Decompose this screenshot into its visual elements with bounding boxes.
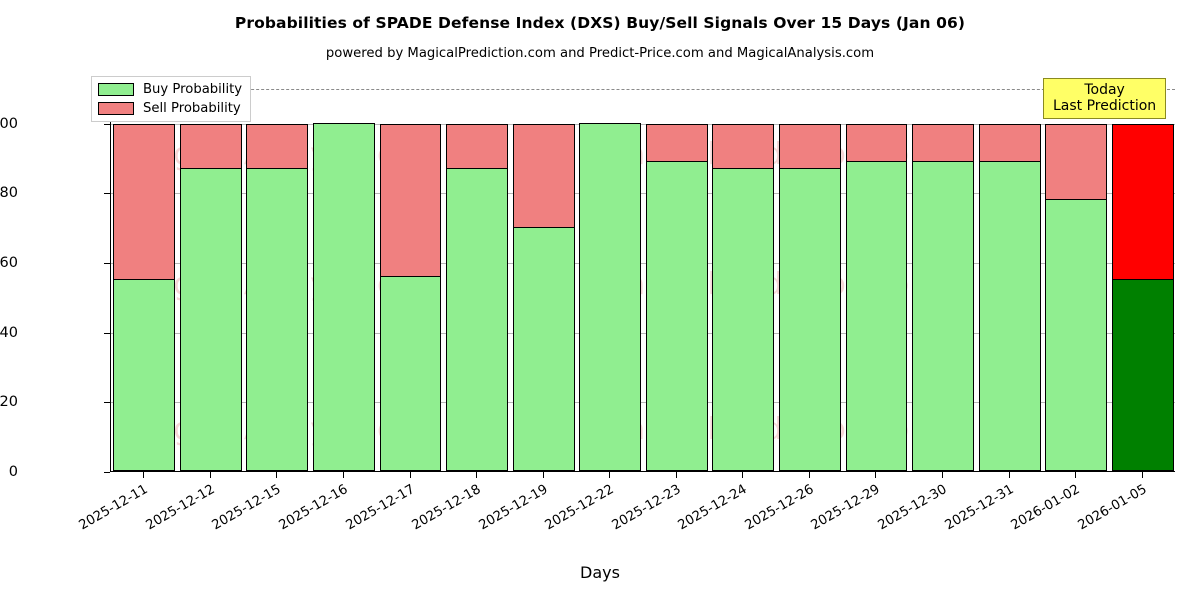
x-tick-label: 2025-12-31 [939,482,1016,535]
bar-group[interactable] [646,123,708,471]
chart-canvas: Probabilities of SPADE Defense Index (DX… [0,0,1200,600]
x-tick-label: 2025-12-16 [274,482,351,535]
bar-segment-sell[interactable] [1045,124,1107,201]
x-tick-label: 2026-01-05 [1072,482,1149,535]
legend-item-buy: Buy Probability [98,82,242,97]
x-tick-label: 2025-12-23 [606,482,683,535]
x-tick-mark [742,472,743,478]
bar-group[interactable] [912,123,974,471]
bar-segment-buy[interactable] [579,123,641,471]
bar-segment-sell[interactable] [979,124,1041,162]
x-tick-label: 2025-12-19 [473,482,550,535]
bar-group[interactable] [712,123,774,471]
reference-dashed-line [111,89,1175,90]
today-label-line2: Last Prediction [1053,98,1156,114]
bar-segment-buy[interactable] [1112,279,1174,471]
x-tick-label: 2025-12-18 [407,482,484,535]
bar-segment-sell[interactable] [712,124,774,169]
bar-group[interactable] [246,123,308,471]
bar-segment-buy[interactable] [779,168,841,471]
x-tick-mark [343,472,344,478]
x-tick-label: 2025-12-26 [740,482,817,535]
x-tick-label: 2025-12-30 [873,482,950,535]
bar-segment-sell[interactable] [846,124,908,162]
y-tick-mark [104,472,110,473]
bar-segment-sell[interactable] [646,124,708,162]
y-tick-label: 100 [0,116,18,132]
bar-group[interactable] [313,123,375,471]
bar-segment-buy[interactable] [513,227,575,471]
x-tick-label: 2026-01-02 [1006,482,1083,535]
bar-segment-sell[interactable] [380,124,442,277]
x-tick-mark [143,472,144,478]
bar-group[interactable] [579,123,641,471]
bar-segment-sell[interactable] [180,124,242,169]
bar-group[interactable] [513,123,575,471]
x-tick-mark [1142,472,1143,478]
x-tick-label: 2025-12-17 [340,482,417,535]
x-tick-label: 2025-12-11 [74,482,151,535]
y-tick-label: 0 [0,464,18,480]
y-tick-label: 40 [0,325,18,341]
bar-segment-sell[interactable] [912,124,974,162]
bar-segment-buy[interactable] [446,168,508,471]
legend-label-buy: Buy Probability [143,82,242,97]
bar-group[interactable] [979,123,1041,471]
x-tick-label: 2025-12-15 [207,482,284,535]
x-tick-mark [410,472,411,478]
x-tick-mark [210,472,211,478]
bar-segment-buy[interactable] [646,161,708,471]
bar-segment-sell[interactable] [113,124,175,281]
bar-segment-buy[interactable] [313,123,375,471]
x-axis-label: Days [0,563,1200,582]
x-tick-mark [609,472,610,478]
chart-title: Probabilities of SPADE Defense Index (DX… [0,14,1200,32]
bar-segment-sell[interactable] [446,124,508,169]
x-tick-mark [276,472,277,478]
bar-segment-buy[interactable] [979,161,1041,471]
bar-segment-buy[interactable] [113,279,175,471]
x-tick-mark [1075,472,1076,478]
legend: Buy Probability Sell Probability [91,76,251,122]
legend-label-sell: Sell Probability [143,101,241,116]
legend-swatch-buy [98,83,134,96]
bar-segment-buy[interactable] [1045,199,1107,471]
bar-group[interactable] [1045,123,1107,471]
legend-item-sell: Sell Probability [98,101,242,116]
x-tick-mark [676,472,677,478]
x-tick-mark [1009,472,1010,478]
x-tick-label: 2025-12-22 [540,482,617,535]
x-tick-mark [875,472,876,478]
x-tick-mark [809,472,810,478]
bar-segment-buy[interactable] [712,168,774,471]
bar-group[interactable] [180,123,242,471]
legend-swatch-sell [98,102,134,115]
bar-segment-buy[interactable] [380,276,442,471]
bar-segment-buy[interactable] [180,168,242,471]
x-tick-label: 2025-12-29 [806,482,883,535]
y-tick-label: 80 [0,185,18,201]
today-label-line1: Today [1053,82,1156,98]
x-tick-label: 2025-12-24 [673,482,750,535]
bar-group[interactable] [1112,123,1174,471]
bar-segment-sell[interactable] [1112,124,1174,281]
x-tick-label: 2025-12-12 [141,482,218,535]
bar-segment-buy[interactable] [246,168,308,471]
bar-series [111,82,1175,471]
x-tick-mark [942,472,943,478]
plot-area: MagicalAnalysis.comMagicalPrediction.com… [110,82,1175,472]
bar-segment-buy[interactable] [846,161,908,471]
x-tick-mark [476,472,477,478]
bar-segment-sell[interactable] [513,124,575,228]
y-tick-label: 60 [0,255,18,271]
bar-group[interactable] [779,123,841,471]
bar-group[interactable] [380,123,442,471]
bar-group[interactable] [113,123,175,471]
chart-subtitle: powered by MagicalPrediction.com and Pre… [0,46,1200,61]
bar-segment-sell[interactable] [779,124,841,169]
bar-segment-sell[interactable] [246,124,308,169]
x-tick-mark [543,472,544,478]
y-tick-label: 20 [0,394,18,410]
bar-group[interactable] [446,123,508,471]
bar-segment-buy[interactable] [912,161,974,471]
today-annotation: Today Last Prediction [1043,78,1166,119]
bar-group[interactable] [846,123,908,471]
